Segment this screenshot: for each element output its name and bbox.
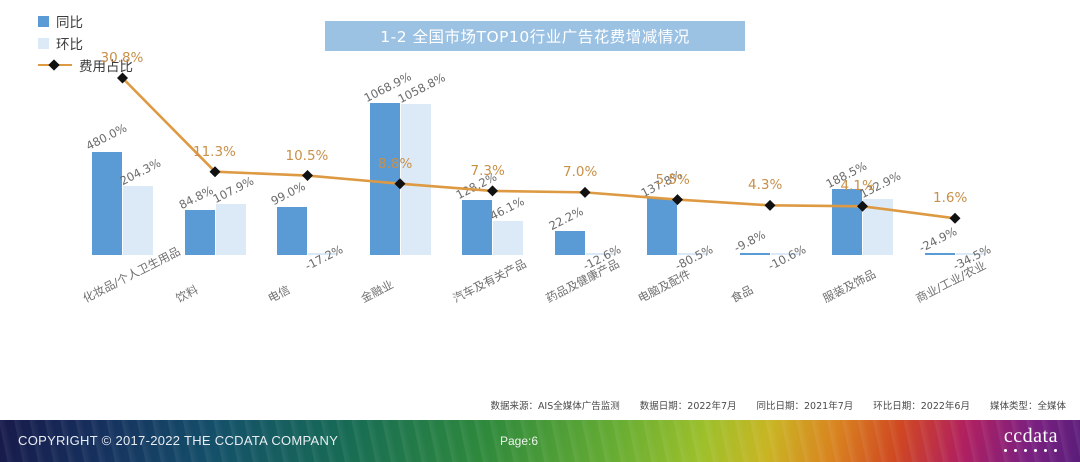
- bar-huanbi: [863, 199, 893, 255]
- category-label: 商业/工业/农业: [913, 257, 989, 306]
- page-number: Page:6: [500, 434, 538, 448]
- category-label: 食品: [728, 282, 756, 307]
- line-value-label: 11.3%: [193, 144, 236, 160]
- line-point-marker: [302, 170, 313, 181]
- line-value-label: 30.8%: [101, 50, 144, 66]
- line-point-marker: [210, 166, 221, 177]
- copyright-text: COPYRIGHT © 2017-2022 THE CCDATA COMPANY: [18, 433, 338, 448]
- meta-mom-date: 环比日期：2022年6月: [873, 398, 970, 412]
- bar-value-label-huanbi: 46.1%: [488, 194, 527, 223]
- slide-page: 同比 环比 费用占比 1-2 全国市场TOP10行业广告花费增减情况 480.0…: [0, 0, 1080, 462]
- bar-tongbi: [925, 253, 955, 256]
- line-value-label: 4.3%: [748, 177, 782, 193]
- category-label: 电脑及配件: [635, 266, 693, 306]
- bar-huanbi: [216, 204, 246, 255]
- logo-wordmark: ccdata: [1004, 426, 1058, 446]
- meta-yoy-date: 同比日期：2021年7月: [757, 398, 854, 412]
- bar-value-label-huanbi: 107.9%: [210, 174, 255, 206]
- bar-value-label-tongbi: 480.0%: [84, 121, 129, 153]
- bar-value-label-huanbi: -17.2%: [303, 242, 346, 273]
- line-point-marker: [580, 187, 591, 198]
- chart-plot-area: 480.0%204.3%84.8%107.9%99.0%-17.2%1068.9…: [0, 0, 1080, 392]
- ccdata-logo: ccdata: [1004, 426, 1058, 452]
- bar-tongbi: [370, 103, 400, 255]
- bar-value-label-tongbi: 84.8%: [176, 183, 215, 212]
- bar-huanbi: [493, 221, 523, 255]
- category-label: 汽车及有关产品: [450, 255, 529, 306]
- bar-value-label-tongbi: 22.2%: [546, 204, 585, 233]
- category-label: 服装及饰品: [820, 266, 878, 306]
- bar-huanbi: [401, 104, 431, 255]
- line-value-label: 4.1%: [841, 178, 875, 194]
- source-metadata: 数据来源：AIS全媒体广告监测 数据日期：2022年7月 同比日期：2021年7…: [0, 398, 1080, 412]
- bar-huanbi: [123, 186, 153, 255]
- line-value-label: 1.6%: [933, 190, 967, 206]
- line-series-feiyongzhanbi: [0, 0, 1080, 392]
- line-value-label: 5.5%: [656, 172, 690, 188]
- bar-tongbi: [832, 189, 862, 255]
- bar-tongbi: [555, 231, 585, 255]
- line-point-marker: [117, 73, 128, 84]
- bar-tongbi: [92, 152, 122, 256]
- meta-media-type: 媒体类型：全媒体: [990, 398, 1066, 412]
- bar-value-label-huanbi: -10.6%: [765, 242, 808, 273]
- category-label: 饮料: [173, 282, 201, 307]
- line-value-label: 7.3%: [471, 163, 505, 179]
- line-value-label: 7.0%: [563, 164, 597, 180]
- meta-source: 数据来源：AIS全媒体广告监测: [490, 398, 619, 412]
- bar-tongbi: [277, 207, 307, 256]
- line-value-label: 8.8%: [378, 156, 412, 172]
- line-point-marker: [950, 213, 961, 224]
- bar-tongbi: [462, 200, 492, 255]
- line-point-marker: [765, 200, 776, 211]
- bar-value-label-tongbi: -24.9%: [916, 224, 959, 255]
- bar-value-label-tongbi: 99.0%: [269, 179, 308, 208]
- bar-tongbi: [185, 210, 215, 255]
- line-value-label: 10.5%: [286, 148, 329, 164]
- logo-dots: [1004, 449, 1058, 452]
- category-label: 电信: [265, 282, 293, 307]
- bar-value-label-tongbi: -9.8%: [731, 227, 767, 255]
- bar-tongbi: [740, 253, 770, 256]
- footer-bar: COPYRIGHT © 2017-2022 THE CCDATA COMPANY…: [0, 420, 1080, 462]
- meta-data-date: 数据日期：2022年7月: [640, 398, 737, 412]
- bar-tongbi: [647, 198, 677, 255]
- bar-value-label-huanbi: 204.3%: [118, 156, 163, 188]
- category-label: 金融业: [358, 276, 396, 306]
